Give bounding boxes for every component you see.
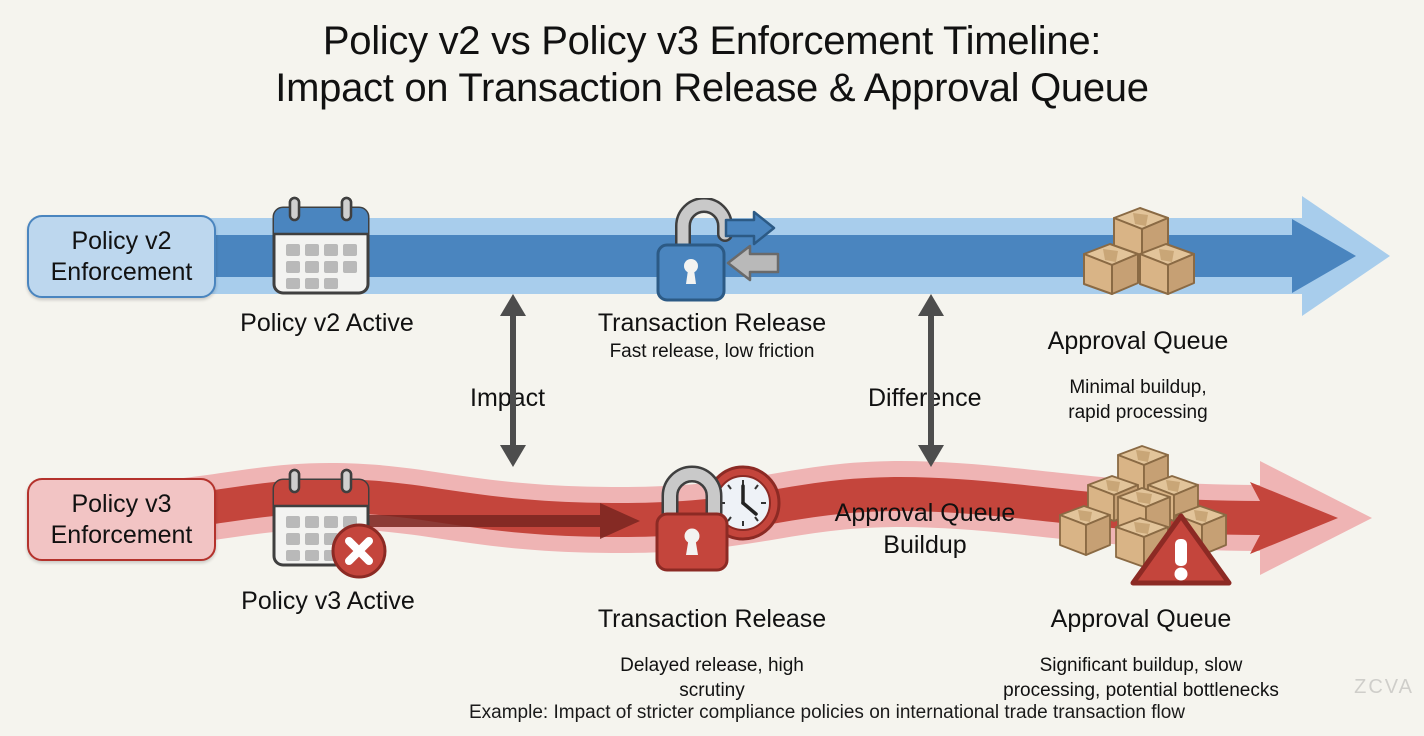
caption-title: Policy v2 Active: [177, 308, 477, 339]
caption-subtitle: Significant buildup, slow processing, po…: [966, 653, 1316, 703]
pill-v3-line-1: Policy v3: [71, 489, 171, 520]
band-overlay-line-2: Buildup: [883, 531, 966, 559]
caption-title: Transaction Release: [562, 604, 862, 635]
infographic-canvas: Policy v2 vs Policy v3 Enforcement Timel…: [0, 0, 1424, 736]
page-title: Policy v2 vs Policy v3 Enforcement Timel…: [0, 18, 1424, 112]
caption-policy-v3-active: Policy v3 Active: [178, 586, 478, 617]
connector-difference: [896, 288, 966, 478]
boxes-pile-warning-icon: [1030, 443, 1255, 593]
caption-title: Policy v3 Active: [178, 586, 478, 617]
watermark: ZCVA: [1354, 676, 1414, 699]
locked-padlock-clock-icon: [650, 458, 790, 578]
band-overlay-line-1: Approval Queue: [835, 499, 1016, 527]
caption-approval-queue-v2: Approval Queue Minimal buildup, rapid pr…: [988, 308, 1288, 443]
x-badge-icon: [333, 525, 385, 577]
title-line-2: Impact on Transaction Release & Approval…: [0, 65, 1424, 112]
caption-subtitle: Minimal buildup, rapid processing: [988, 375, 1288, 425]
caption-title: Approval Queue: [966, 604, 1316, 635]
caption-policy-v2-active: Policy v2 Active: [177, 308, 477, 339]
calendar-blocked-icon: [266, 468, 392, 585]
caption-subtitle: Delayed release, high scrutiny: [562, 653, 862, 703]
title-line-1: Policy v2 vs Policy v3 Enforcement Timel…: [0, 18, 1424, 65]
pill-v3-line-2: Enforcement: [51, 520, 193, 551]
label-policy-v2-enforcement[interactable]: Policy v2 Enforcement: [27, 215, 216, 298]
caption-subtitle: Fast release, low friction: [562, 339, 862, 364]
boxes-small-icon: [1078, 202, 1203, 307]
caption-transaction-release-v2: Transaction Release Fast release, low fr…: [562, 308, 862, 364]
band-overlay-approval-queue-buildup: Approval Queue Buildup: [790, 497, 1060, 561]
unlocked-padlock-icon: [650, 198, 785, 308]
pill-v2-line-1: Policy v2: [71, 226, 171, 257]
double-arrow-vertical-icon: [478, 288, 548, 473]
double-arrow-vertical-icon: [896, 288, 966, 473]
caption-approval-queue-v3: Approval Queue Significant buildup, slow…: [966, 586, 1316, 721]
caption-title: Transaction Release: [562, 308, 862, 339]
pill-v2-line-2: Enforcement: [51, 257, 193, 288]
label-policy-v3-enforcement[interactable]: Policy v3 Enforcement: [27, 478, 216, 561]
caption-transaction-release-v3: Transaction Release Delayed release, hig…: [562, 586, 862, 721]
connector-impact: [478, 288, 548, 478]
caption-title: Approval Queue: [988, 326, 1288, 357]
calendar-icon: [266, 196, 376, 306]
